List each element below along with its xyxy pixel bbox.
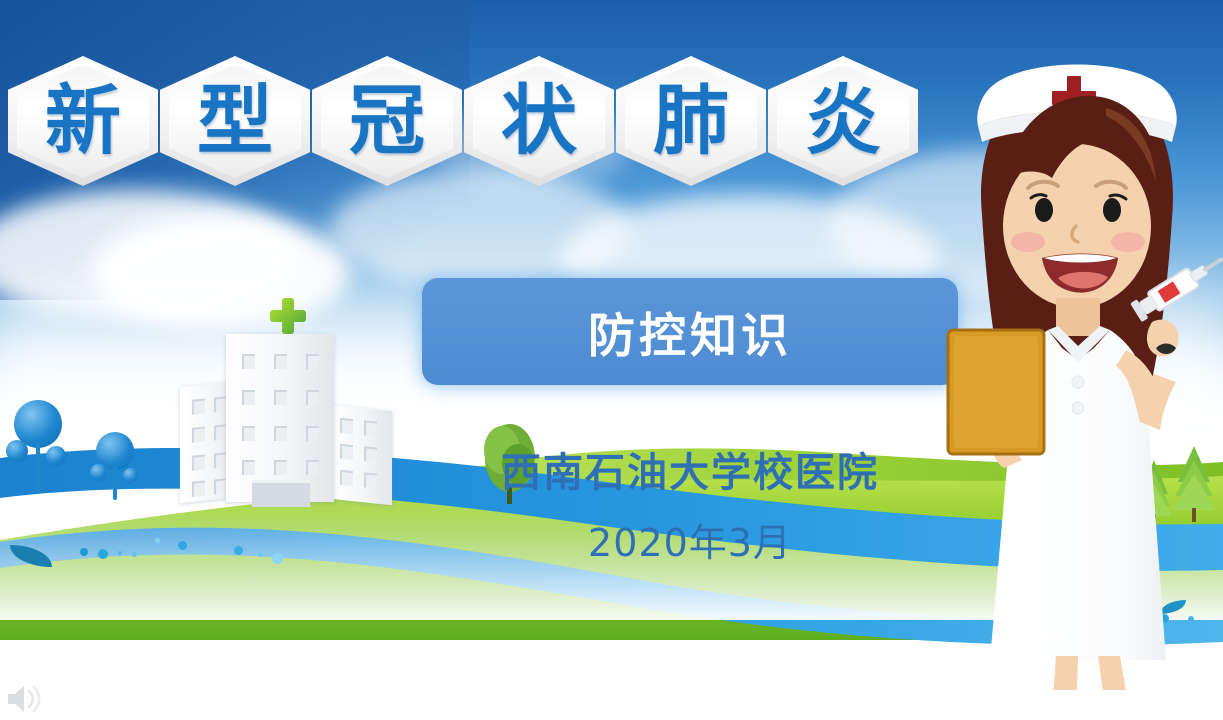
nurse-cheek-left xyxy=(1011,232,1045,252)
title-char: 状 xyxy=(464,56,614,186)
dress-button xyxy=(1072,402,1084,414)
dress-button xyxy=(1072,376,1084,388)
nurse-leg-right xyxy=(1098,656,1130,690)
title-char: 型 xyxy=(160,56,310,186)
nurse-eye-left xyxy=(1035,198,1053,222)
building-main-tower xyxy=(226,334,334,502)
subtitle-box: 防控知识 xyxy=(422,278,958,385)
title-badge-4: 状 xyxy=(464,56,614,186)
title-badge-6: 炎 xyxy=(768,56,918,186)
building-wing-right xyxy=(330,405,392,506)
speaker-icon[interactable] xyxy=(6,683,46,715)
title-char: 肺 xyxy=(616,56,766,186)
nurse-eye-right xyxy=(1103,198,1121,222)
bubble xyxy=(118,551,122,555)
title-badge-2: 型 xyxy=(160,56,310,186)
presentation-date: 2020年3月 xyxy=(420,512,960,567)
slide-canvas: 新 型 冠 状 肺 炎 防控知识 西南石油大 xyxy=(0,0,1223,720)
nurse-leg-left xyxy=(1052,656,1078,690)
bubble xyxy=(155,538,160,543)
bubble xyxy=(80,548,88,556)
title-badge-3: 冠 xyxy=(312,56,462,186)
bubble xyxy=(178,541,187,550)
title-char: 新 xyxy=(8,56,158,186)
hospital-building xyxy=(170,300,400,500)
title-badge-1: 新 xyxy=(8,56,158,186)
bubble xyxy=(98,549,108,559)
title-char: 冠 xyxy=(312,56,462,186)
organization-name: 西南石油大学校医院 xyxy=(420,440,960,498)
clipboard xyxy=(948,330,1044,454)
stylized-tree xyxy=(6,400,70,500)
building-entrance xyxy=(252,480,310,507)
title-hex-row: 新 型 冠 状 肺 炎 xyxy=(0,50,960,190)
green-cross-icon xyxy=(270,298,306,334)
nurse-cheek-right xyxy=(1111,232,1145,252)
title-char: 炎 xyxy=(768,56,918,186)
title-badge-5: 肺 xyxy=(616,56,766,186)
bubble xyxy=(258,552,263,557)
bubble xyxy=(132,552,137,557)
bubble xyxy=(272,553,283,564)
stylized-tree xyxy=(90,432,142,510)
bubble xyxy=(234,546,243,555)
subtitle-text: 防控知识 xyxy=(588,297,792,366)
nurse-illustration xyxy=(930,30,1223,690)
nurse-neck xyxy=(1056,298,1100,336)
